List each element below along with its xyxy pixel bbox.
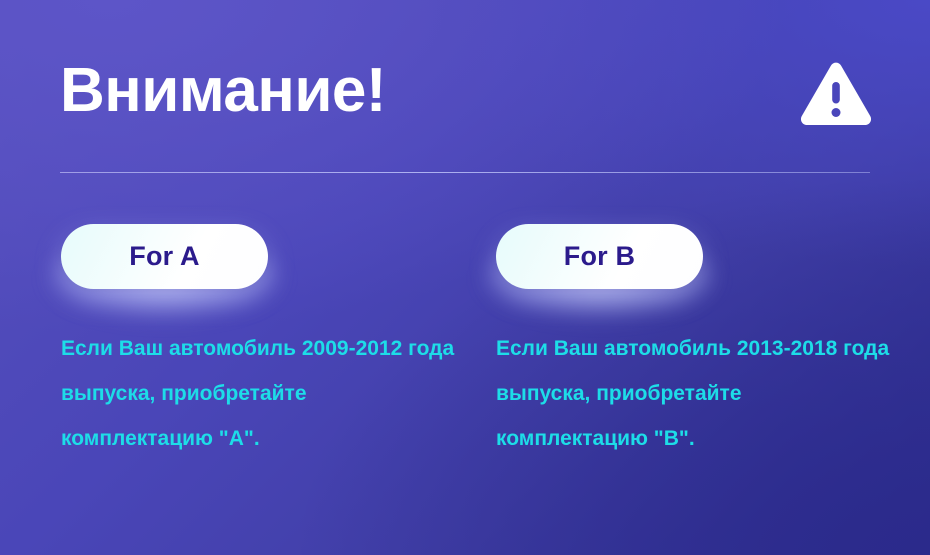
- option-b-description: Если Ваш автомобиль 2013-2018 года выпус…: [496, 326, 896, 461]
- option-column-b: For B: [496, 224, 916, 289]
- option-column-a: For A: [61, 224, 481, 289]
- header-divider: [60, 172, 870, 173]
- for-b-button-wrap: For B: [496, 224, 703, 289]
- for-b-button-label: For B: [564, 241, 636, 272]
- option-a-description: Если Ваш автомобиль 2009-2012 года выпус…: [61, 326, 461, 461]
- for-a-button[interactable]: For A: [61, 224, 268, 289]
- page-title: Внимание!: [60, 58, 386, 123]
- for-a-button-wrap: For A: [61, 224, 268, 289]
- for-b-button[interactable]: For B: [496, 224, 703, 289]
- attention-banner: Внимание! For A Если Ваш автомобиль 2009…: [0, 0, 930, 555]
- for-a-button-label: For A: [129, 241, 200, 272]
- warning-triangle-icon: [798, 60, 874, 130]
